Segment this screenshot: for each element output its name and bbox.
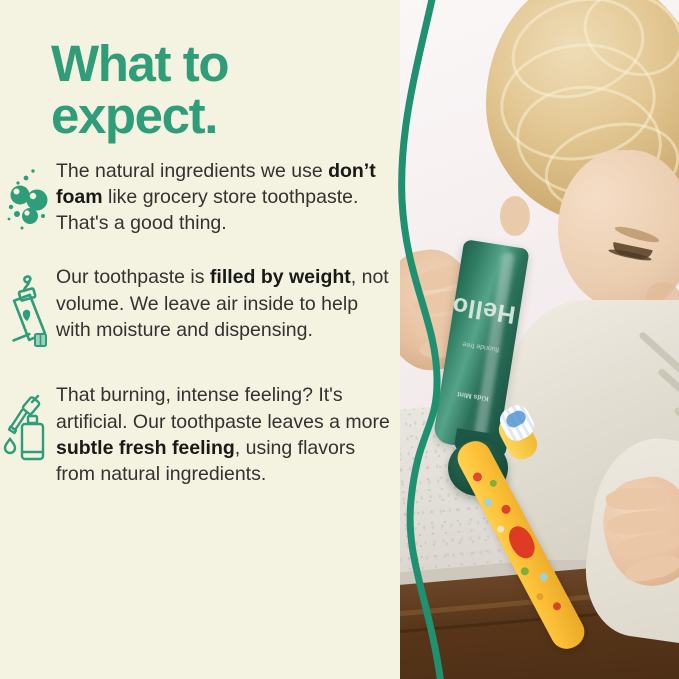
- product-photo: Hello fluoride free Kids Mint: [400, 0, 679, 679]
- text-part: Our toothpaste is: [56, 266, 210, 288]
- list-item-text: The natural ingredients we use don’t foa…: [56, 158, 400, 236]
- dropper-bottle-icon: [0, 382, 56, 472]
- list-item: Our toothpaste is filled by weight, not …: [0, 264, 400, 352]
- page-title-line2: expect.: [51, 90, 381, 142]
- tube-brand-label: Hello: [456, 291, 518, 329]
- child-ear: [500, 196, 530, 236]
- list-item: The natural ingredients we use don’t foa…: [0, 158, 400, 236]
- list-item: That burning, intense feeling? It's arti…: [0, 382, 400, 487]
- page-title-line1: What to: [51, 38, 381, 90]
- text-emphasis: filled by weight: [210, 266, 351, 288]
- copy-column: What to expect.: [0, 0, 400, 679]
- list-item-text: Our toothpaste is filled by weight, not …: [56, 264, 400, 342]
- page-title: What to expect.: [51, 38, 381, 142]
- text-part: The natural ingredients we use: [56, 160, 328, 182]
- text-emphasis: subtle fresh feeling: [56, 437, 235, 459]
- list-item-text: That burning, intense feeling? It's arti…: [56, 382, 400, 487]
- bubbles-icon: [0, 158, 56, 234]
- text-part: That burning, intense feeling? It's arti…: [56, 384, 390, 432]
- poster: Hello fluoride free Kids Mint: [0, 0, 679, 679]
- benefit-list: The natural ingredients we use don’t foa…: [0, 158, 400, 515]
- toothpaste-tube-icon: [0, 264, 56, 352]
- photo-scene: Hello fluoride free Kids Mint: [400, 0, 679, 679]
